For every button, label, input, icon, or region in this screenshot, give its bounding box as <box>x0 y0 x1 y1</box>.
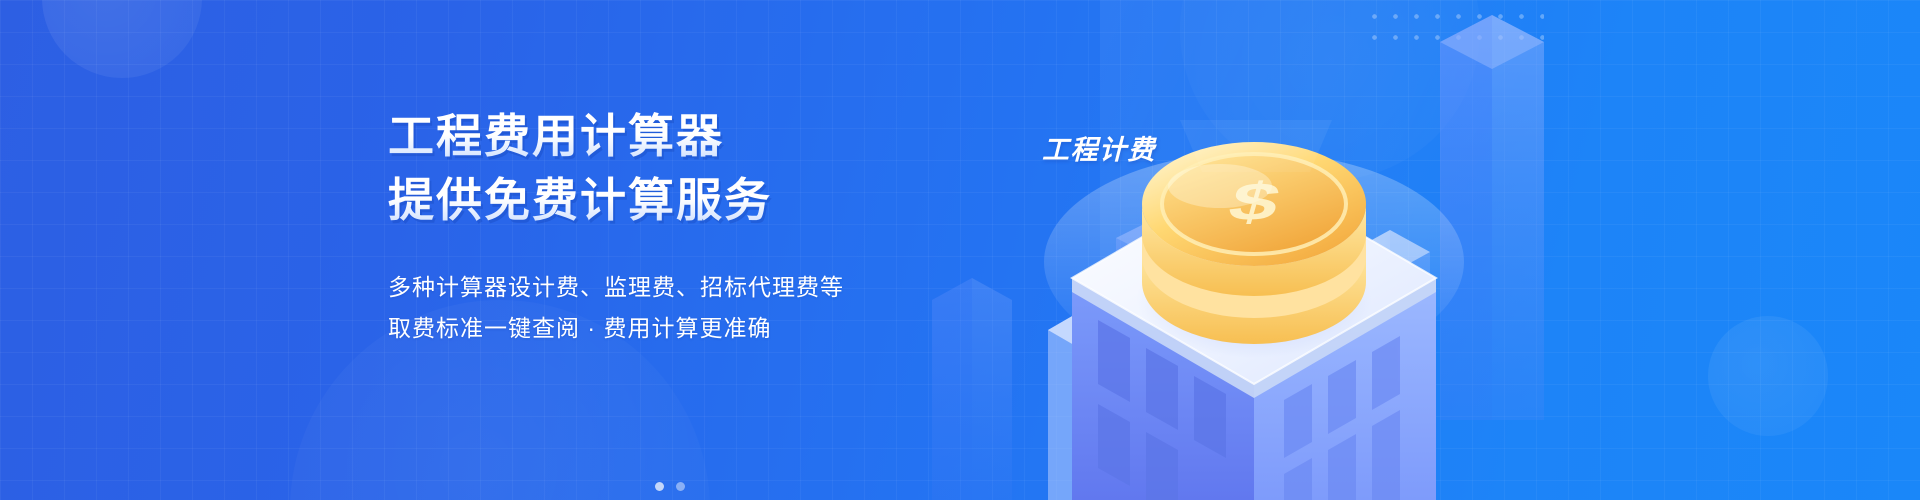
illustration-badge-label: 工程计费 <box>1042 128 1156 167</box>
isometric-city-illustration: $ <box>880 0 1920 500</box>
carousel-indicators[interactable] <box>655 482 685 491</box>
promo-banner: $ 工程计费 工程费用计算器 提供免费计算服务 多种计算器设计费、监理费、招标代… <box>0 0 1920 500</box>
headline-line-1: 工程费用计算器 <box>388 108 1008 164</box>
subtitle-line-2: 取费标准一键查阅 · 费用计算更准确 <box>388 309 1008 348</box>
carousel-dot-2[interactable] <box>676 482 685 491</box>
decorative-circle-top-left <box>42 0 202 78</box>
banner-copy-block: 工程费用计算器 提供免费计算服务 多种计算器设计费、监理费、招标代理费等 取费标… <box>388 108 1008 348</box>
headline-line-2: 提供免费计算服务 <box>388 172 1008 228</box>
gold-coin-stack: $ <box>1142 142 1366 344</box>
carousel-dot-1[interactable] <box>655 482 664 491</box>
subtitle-line-1: 多种计算器设计费、监理费、招标代理费等 <box>388 268 1008 307</box>
